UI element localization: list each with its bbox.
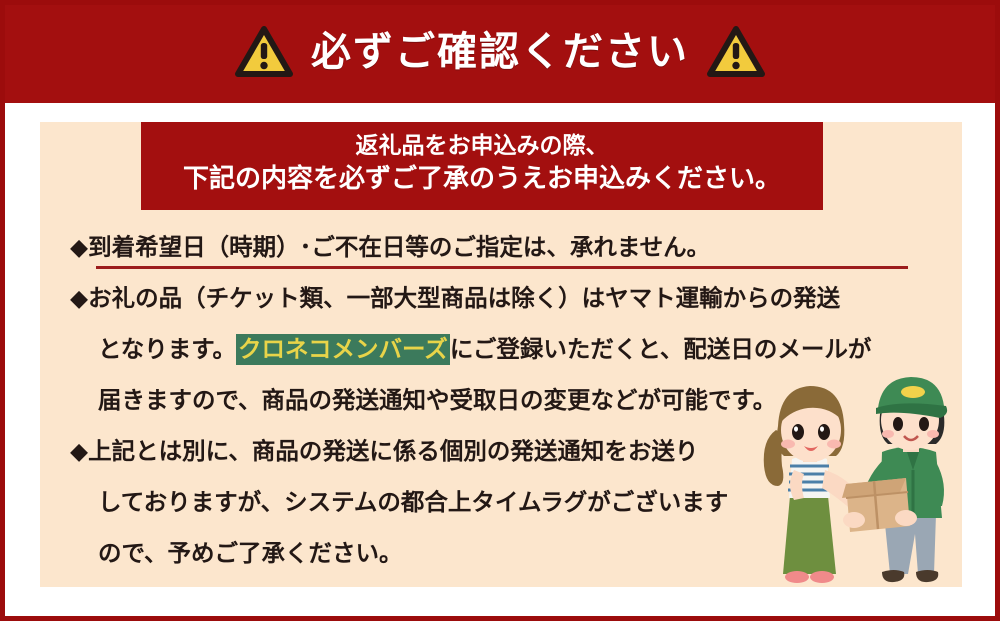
content-panel: 返礼品をお申込みの際、 下記の内容を必ずご了承のうえお申込みください。 ◆到着希… — [40, 122, 962, 587]
notice-text: 上記とは別に、商品の発送に係る個別の発送通知をお送り — [88, 437, 698, 465]
delivery-handoff-illustration — [750, 374, 962, 587]
bullet-diamond: ◆ — [70, 233, 88, 261]
warning-triangle-icon — [707, 26, 765, 78]
kuroneko-members-highlight[interactable]: クロネコメンバーズ — [236, 334, 450, 365]
warning-triangle-icon — [235, 26, 293, 78]
notice-text: お礼の品（チケット類、一部大型商品は除く）はヤマト運輸からの発送 — [88, 284, 840, 312]
notice-text-post: にご登録いただくと、配送日のメールが — [450, 335, 872, 363]
header-banner: 必ずご確認ください — [0, 0, 1000, 103]
notice-text: 届きますので、商品の発送通知や受取日の変更などが可能です。 — [98, 386, 776, 414]
notice-text: しておりますが、システムの都合上タイムラグがございます — [98, 488, 728, 516]
sub-banner-line-2: 下記の内容を必ずご了承のうえお申込みください。 — [183, 164, 781, 195]
sub-banner: 返礼品をお申込みの際、 下記の内容を必ずご了承のうえお申込みください。 — [141, 122, 823, 210]
notice-text: ので、予めご了承ください。 — [98, 539, 403, 567]
sub-banner-line-1: 返礼品をお申込みの際、 — [356, 133, 609, 160]
notice-line: ◆到着希望日（時期）･ご不在日等のご指定は、承れません。 — [70, 222, 930, 273]
bullet-diamond: ◆ — [70, 284, 88, 312]
notice-text-pre: となります。 — [98, 335, 236, 363]
notice-poster: 必ずご確認ください 返礼品をお申込みの際、 下記の内容を必ずご了承のうえお申込み… — [0, 0, 1000, 621]
page-title: 必ずご確認ください — [311, 32, 689, 72]
notice-line: ◆お礼の品（チケット類、一部大型商品は除く）はヤマト運輸からの発送 — [70, 273, 930, 324]
notice-line: となります。クロネコメンバーズにご登録いただくと、配送日のメールが — [70, 324, 930, 375]
bullet-diamond: ◆ — [70, 437, 88, 465]
notice-text: 到着希望日（時期）･ご不在日等のご指定は、承れません。 — [88, 233, 710, 261]
